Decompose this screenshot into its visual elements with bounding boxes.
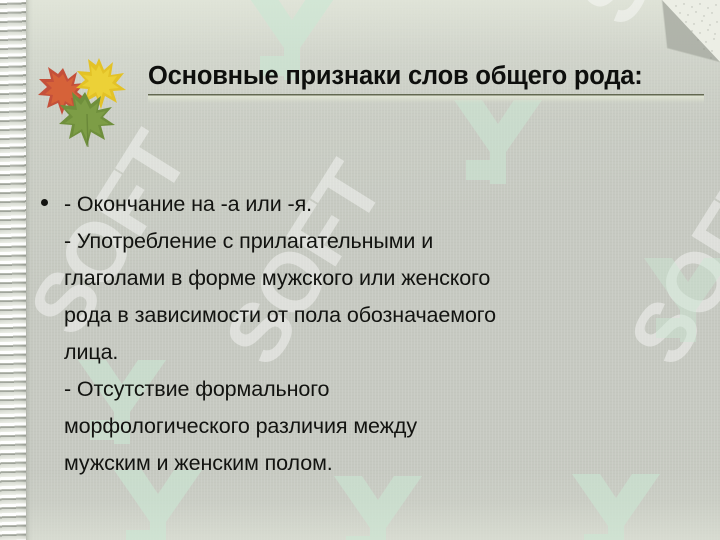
body-lines: - Окончание на -а или -я. - Употребление… [64,186,701,482]
body-line: рода в зависимости от пола обозначаемого [64,297,701,334]
title-underline-rule [148,94,704,103]
body-line: - Окончание на -а или -я. [64,186,701,223]
body-text-block: - Окончание на -а или -я. - Употребление… [41,186,701,482]
slide-canvas: SOFT SOFT SOFT SOFT [0,0,720,540]
body-line: глаголами в форме мужского или женского [64,260,701,297]
title-block: Основные признаки слов общего рода: [148,62,704,103]
body-line: - Отсутствие формального [64,371,701,408]
watermark-text-top-right: SOFT [560,0,720,41]
body-line: - Употребление с прилагательными и [64,223,701,260]
page-title: Основные признаки слов общего рода: [148,62,704,92]
body-line: морфологического различия между [64,408,701,445]
body-line: лица. [64,334,701,371]
autumn-maple-leaves-icon [33,52,133,150]
binding-rings [0,0,26,540]
binding-inner-shadow [26,0,33,540]
body-line: мужским и женским полом. [64,445,701,482]
bullet-point-icon [41,199,48,206]
spiral-binding [0,0,26,540]
